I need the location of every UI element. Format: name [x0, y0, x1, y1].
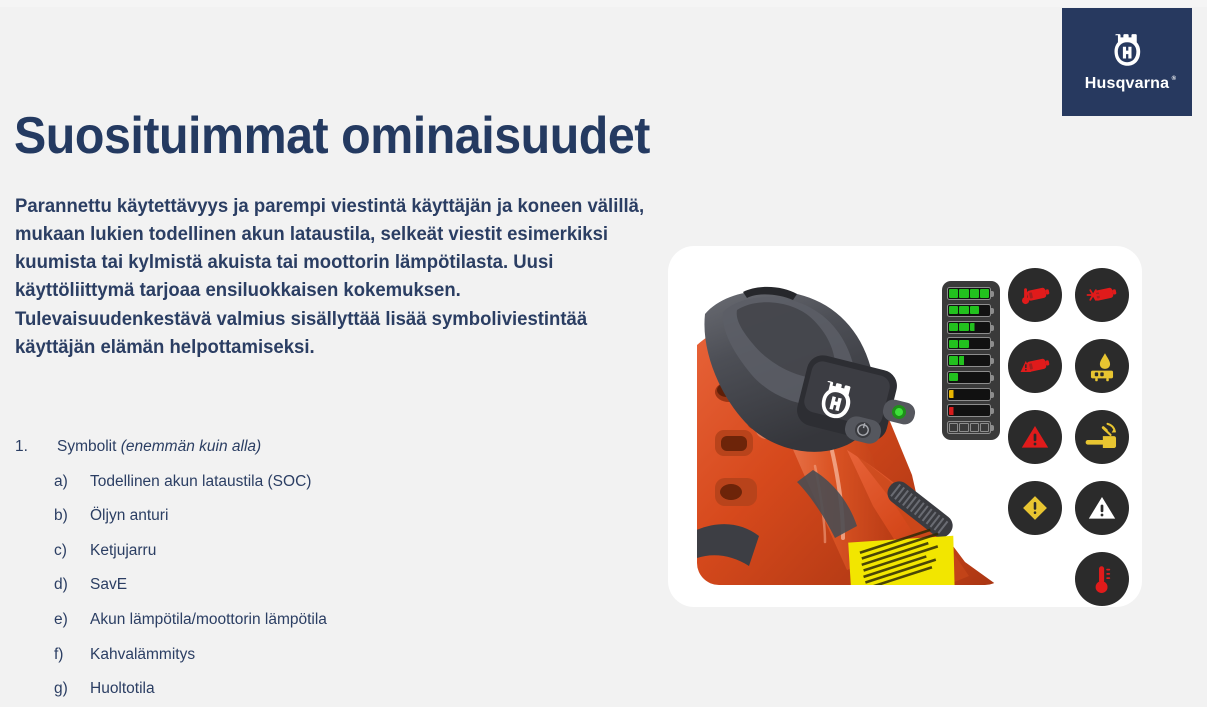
battery-segment: [959, 373, 968, 381]
battery-segment: [959, 340, 968, 348]
illustration-card: [668, 246, 1142, 607]
list-item: e)Akun lämpötila/moottorin lämpötila: [12, 603, 612, 638]
battery-body: [947, 321, 991, 334]
battery-level-row: [947, 421, 995, 434]
battery-segment: [959, 306, 968, 314]
list-item-marker: b): [54, 499, 90, 534]
list-item-marker: 1.: [12, 430, 57, 465]
symbol-icon-grid: [1008, 268, 1134, 588]
battery-segment: [959, 390, 968, 398]
service-mode-icon: [1075, 410, 1129, 464]
battery-segment: [949, 407, 958, 415]
list-item: g)Huoltotila: [12, 672, 612, 707]
battery-segment: [980, 373, 989, 381]
battery-segment: [949, 423, 958, 431]
list-item-marker: a): [54, 465, 90, 500]
warning-icon: [1075, 481, 1129, 535]
battery-state-of-charge-panel: [942, 281, 1000, 440]
battery-segment: [970, 373, 979, 381]
battery-segment: [949, 390, 958, 398]
battery-segment: [959, 323, 968, 331]
top-strip: [0, 0, 1207, 7]
list-item-marker: e): [54, 603, 90, 638]
list-item-label: Akun lämpötila/moottorin lämpötila: [90, 603, 612, 638]
list-item-marker: c): [54, 534, 90, 569]
list-item-marker: d): [54, 568, 90, 603]
battery-level-row: [947, 321, 995, 334]
list-item-marker: g): [54, 672, 90, 707]
list-item: a)Todellinen akun lataustila (SOC): [12, 465, 612, 500]
list-item: 1.Symbolit (enemmän kuin alla): [12, 430, 612, 465]
battery-segment: [959, 423, 968, 431]
battery-body: [947, 287, 991, 300]
list-item-marker: f): [54, 638, 90, 673]
battery-segment: [970, 289, 979, 297]
battery-segment: [949, 356, 958, 364]
battery-segment: [970, 423, 979, 431]
battery-cap: [991, 341, 994, 347]
husqvarna-wordmark: Husqvarna®: [1085, 75, 1170, 93]
battery-cap: [991, 375, 994, 381]
list-item-label: Todellinen akun lataustila (SOC): [90, 465, 612, 500]
battery-cap: [991, 392, 994, 398]
battery-body: [947, 371, 991, 384]
trademark-symbol: ®: [1172, 76, 1177, 82]
battery-segment: [949, 289, 958, 297]
battery-cap: [991, 308, 994, 314]
battery-segment: [959, 407, 968, 415]
battery-body: [947, 404, 991, 417]
husqvarna-crown-icon: [1110, 31, 1144, 69]
battery-body: [947, 304, 991, 317]
list-item-label: Symbolit (enemmän kuin alla): [57, 430, 612, 465]
battery-segment: [949, 323, 958, 331]
battery-segment: [980, 289, 989, 297]
list-item: c)Ketjujarru: [12, 534, 612, 569]
caution-icon: [1008, 481, 1062, 535]
battery-segment: [970, 323, 979, 331]
husqvarna-logo-block: Husqvarna®: [1062, 8, 1192, 116]
battery-body: [947, 337, 991, 350]
battery-body: [947, 421, 991, 434]
battery-body: [947, 354, 991, 367]
battery-segment: [980, 407, 989, 415]
battery-level-row: [947, 287, 995, 300]
battery-segment: [970, 306, 979, 314]
battery-segment: [970, 407, 979, 415]
battery-segment: [980, 306, 989, 314]
battery-fault-icon: [1008, 339, 1062, 393]
battery-segment: [980, 323, 989, 331]
battery-level-row: [947, 354, 995, 367]
battery-cap: [991, 325, 994, 331]
list-item-label: Kahvalämmitys: [90, 638, 612, 673]
battery-cap: [991, 408, 994, 414]
list-item: d)SavE: [12, 568, 612, 603]
battery-segment: [970, 390, 979, 398]
list-item-label: SavE: [90, 568, 612, 603]
battery-level-row: [947, 371, 995, 384]
battery-segment: [980, 390, 989, 398]
battery-segment: [980, 423, 989, 431]
battery-level-row: [947, 304, 995, 317]
battery-segment: [959, 289, 968, 297]
battery-cap: [991, 425, 994, 431]
oil-sensor-icon: [1075, 339, 1129, 393]
battery-cap: [991, 291, 994, 297]
list-item-label: Öljyn anturi: [90, 499, 612, 534]
feature-list: 1.Symbolit (enemmän kuin alla)a)Todellin…: [12, 430, 612, 707]
battery-segment: [980, 356, 989, 364]
battery-hot-icon: [1008, 268, 1062, 322]
battery-body: [947, 388, 991, 401]
battery-segment: [959, 356, 968, 364]
battery-segment: [970, 356, 979, 364]
battery-segment: [949, 373, 958, 381]
slide-root: Husqvarna® Suosituimmat ominaisuudet Par…: [0, 0, 1207, 700]
battery-segment: [949, 340, 958, 348]
battery-level-row: [947, 337, 995, 350]
brand-name: Husqvarna: [1085, 75, 1170, 92]
battery-level-row: [947, 388, 995, 401]
battery-cap: [991, 358, 994, 364]
list-item-label: Huoltotila: [90, 672, 612, 707]
battery-segment: [949, 306, 958, 314]
list-item: f)Kahvalämmitys: [12, 638, 612, 673]
list-item: b)Öljyn anturi: [12, 499, 612, 534]
battery-level-row: [947, 404, 995, 417]
lead-paragraph: Parannettu käytettävyys ja parempi viest…: [15, 192, 650, 362]
page-title: Suosituimmat ominaisuudet: [14, 109, 650, 164]
battery-cold-icon: [1075, 268, 1129, 322]
motor-temperature-icon: [1075, 552, 1129, 606]
battery-segment: [970, 340, 979, 348]
list-item-emphasis: (enemmän kuin alla): [121, 438, 261, 455]
list-item-label: Ketjujarru: [90, 534, 612, 569]
battery-segment: [980, 340, 989, 348]
general-error-icon: [1008, 410, 1062, 464]
